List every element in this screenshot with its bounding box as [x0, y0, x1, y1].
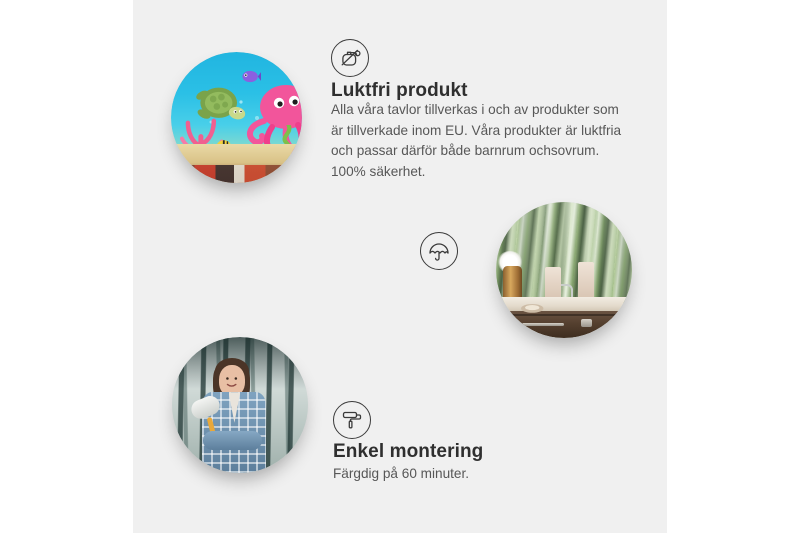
- feature-image-underwater: [171, 52, 302, 183]
- fish-illustration: [239, 68, 261, 85]
- woman-painter: [196, 356, 280, 473]
- feature-description-odourless: Alla våra tavlor tillverkas i och av pro…: [331, 100, 623, 182]
- underwater-illustration: [171, 52, 302, 183]
- forest-wallpaper-photo: [172, 337, 308, 473]
- cabinet-handle: [581, 319, 592, 327]
- no-spray-bottle-icon: [331, 39, 369, 77]
- umbrella-icon: [420, 232, 458, 270]
- feature-title-easy-mounting: Enkel montering: [333, 441, 483, 463]
- vanity-cabinet: [496, 311, 632, 338]
- face: [219, 365, 244, 395]
- bathroom-photo: [496, 202, 632, 338]
- decor-box: [545, 267, 561, 300]
- paint-roller-icon: [333, 401, 371, 439]
- page-root: Luktfri produkt Alla våra tavlor tillver…: [0, 0, 800, 533]
- cabinet-handle: [522, 323, 564, 326]
- shipwreck-strip: [171, 165, 302, 183]
- feature-image-bathroom: [496, 202, 632, 338]
- cabinet-seam: [510, 314, 623, 316]
- soap-dish: [520, 303, 544, 314]
- feature-description-easy-mounting: Färgdig på 60 minuter.: [333, 464, 633, 485]
- feature-image-painter: [172, 337, 308, 473]
- feature-title-odourless: Luktfri produkt: [331, 80, 468, 102]
- crossed-arms: [203, 431, 262, 450]
- decor-box: [578, 262, 594, 300]
